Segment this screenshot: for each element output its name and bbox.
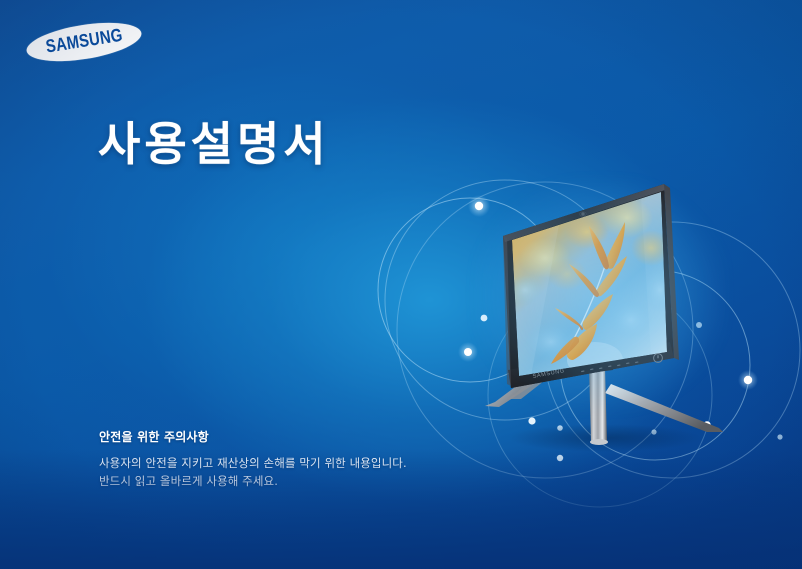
product-glow [475,180,725,410]
product-image-all-in-one-pc: SAMSUNG [455,170,755,460]
page-title: 사용설명서 [98,118,330,171]
safety-notice-heading: 안전을 위한 주의사항 [99,428,499,445]
safety-notice-block: 안전을 위한 주의사항 사용자의 안전을 지키고 재산상의 손해를 막기 위한 … [99,428,499,490]
logo-wordmark: SAMSUNG [24,16,144,68]
safety-notice-line-2: 반드시 읽고 올바르게 사용해 주세요. [99,472,499,490]
safety-notice-line-1: 사용자의 안전을 지키고 재산상의 손해를 막기 위한 내용입니다. [99,454,499,472]
manual-cover-page: SAMSUNG SAMSUNG 사용설명서 안전 [0,0,802,569]
decor-dot [777,434,782,439]
logo-wordmark-text: SAMSUNG [44,25,124,58]
stand-base [590,439,608,445]
samsung-logo: SAMSUNG [26,25,142,59]
